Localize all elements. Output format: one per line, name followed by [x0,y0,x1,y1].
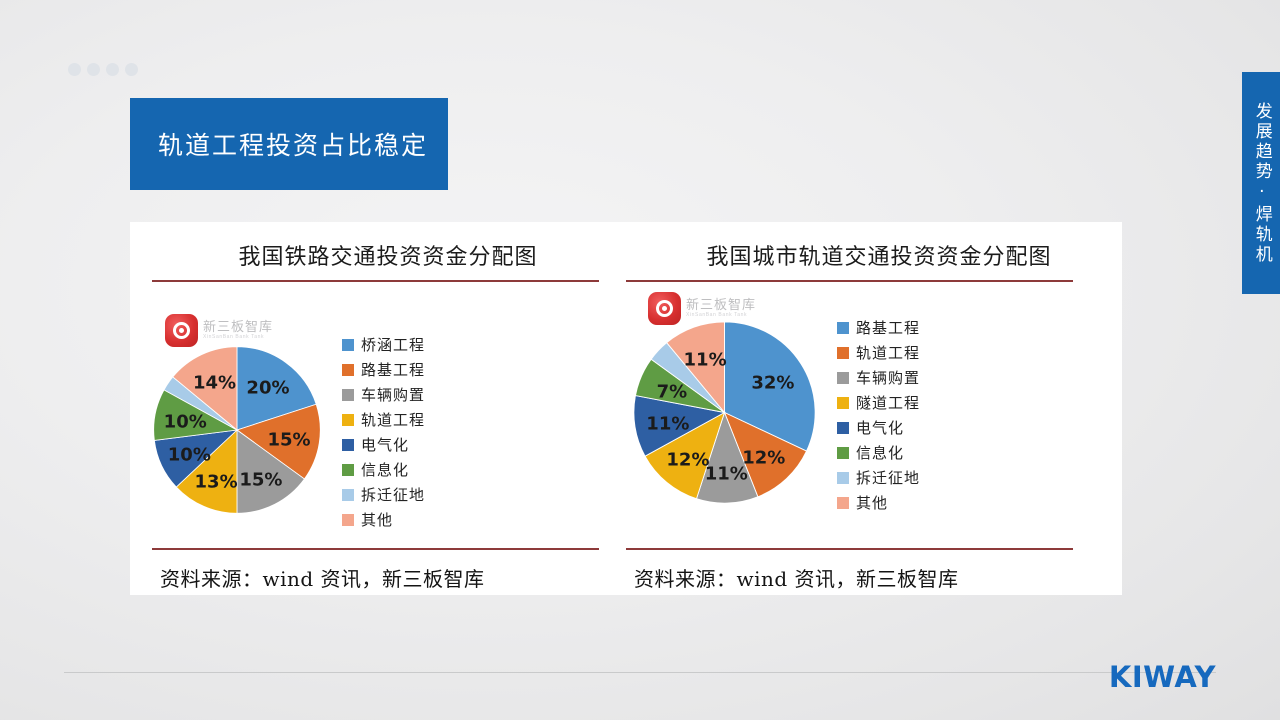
title-divider [152,280,599,282]
chart-panel-railway: 我国铁路交通投资资金分配图 新三板智库 XinSanBan Bank Tank … [130,222,626,595]
legend-swatch-icon [342,364,354,376]
legend-label: 轨道工程 [361,409,425,430]
charts-row: 我国铁路交通投资资金分配图 新三板智库 XinSanBan Bank Tank … [130,222,1122,595]
legend-item[interactable]: 信息化 [342,459,425,480]
legend-swatch-icon [837,472,849,484]
source-divider [626,548,1073,550]
legend-item[interactable]: 电气化 [837,417,920,438]
legend-label: 拆迁征地 [361,484,425,505]
legend-item[interactable]: 桥涵工程 [342,334,425,355]
section-side-tab[interactable]: 发展趋势·焊轨机 [1242,72,1280,294]
page-title: 轨道工程投资占比稳定 [130,126,428,162]
legend-label: 电气化 [361,434,409,455]
legend-label: 其他 [361,509,393,530]
pie-chart-railway: 20%15%15%13%10%10%14% [152,345,322,520]
chart-title: 我国铁路交通投资资金分配图 [130,222,626,271]
pie-area: 20%15%15%13%10%10%14% 桥涵工程路基工程车辆购置轨道工程电气… [152,334,425,530]
legend-swatch-icon [837,447,849,459]
legend-item[interactable]: 轨道工程 [837,342,920,363]
legend-item[interactable]: 轨道工程 [342,409,425,430]
pie-svg [152,345,322,515]
legend-swatch-icon [342,464,354,476]
chart-legend: 路基工程轨道工程车辆购置隧道工程电气化信息化拆迁征地其他 [837,317,920,513]
dot-icon [125,63,138,76]
legend-swatch-icon [342,439,354,451]
decorative-dots [68,63,138,76]
slide-root: 轨道工程投资占比稳定 发展趋势·焊轨机 我国铁路交通投资资金分配图 新三板智库 … [0,0,1280,720]
legend-swatch-icon [342,414,354,426]
legend-swatch-icon [342,389,354,401]
legend-swatch-icon [342,339,354,351]
legend-item[interactable]: 路基工程 [837,317,920,338]
legend-swatch-icon [837,347,849,359]
title-divider [626,280,1073,282]
dot-icon [68,63,81,76]
watermark-cn: 新三板智库 [203,321,273,335]
legend-swatch-icon [837,322,849,334]
source-divider [152,548,599,550]
legend-label: 其他 [856,492,888,513]
legend-swatch-icon [837,397,849,409]
legend-item[interactable]: 隧道工程 [837,392,920,413]
legend-label: 桥涵工程 [361,334,425,355]
legend-label: 车辆购置 [856,367,920,388]
legend-label: 路基工程 [361,359,425,380]
legend-item[interactable]: 拆迁征地 [342,484,425,505]
legend-label: 信息化 [856,442,904,463]
chart-legend: 桥涵工程路基工程车辆购置轨道工程电气化信息化拆迁征地其他 [342,334,425,530]
dot-icon [106,63,119,76]
legend-label: 电气化 [856,417,904,438]
legend-label: 车辆购置 [361,384,425,405]
legend-item[interactable]: 其他 [837,492,920,513]
dot-icon [87,63,100,76]
legend-label: 轨道工程 [856,342,920,363]
chart-source: 资料来源：wind 资讯，新三板智库 [160,563,485,592]
watermark-cn: 新三板智库 [686,299,756,313]
legend-label: 拆迁征地 [856,467,920,488]
brand-logo: KIWAY [1109,660,1216,694]
chart-title: 我国城市轨道交通投资资金分配图 [626,222,1122,271]
legend-item[interactable]: 电气化 [342,434,425,455]
brand-logo-text: KIWAY [1109,660,1216,694]
pie-area: 32%12%11%12%11%7%11% 路基工程轨道工程车辆购置隧道工程电气化… [632,317,920,513]
legend-item[interactable]: 路基工程 [342,359,425,380]
legend-label: 信息化 [361,459,409,480]
legend-swatch-icon [342,514,354,526]
chart-panel-urban-rail: 我国城市轨道交通投资资金分配图 新三板智库 XinSanBan Bank Tan… [626,222,1122,595]
charts-content-card: 我国铁路交通投资资金分配图 新三板智库 XinSanBan Bank Tank … [130,222,1122,595]
legend-swatch-icon [342,489,354,501]
legend-item[interactable]: 其他 [342,509,425,530]
footer-divider [64,672,1216,673]
slide-title-band: 轨道工程投资占比稳定 [130,98,448,190]
legend-item[interactable]: 拆迁征地 [837,467,920,488]
pie-svg [632,320,817,505]
legend-item[interactable]: 信息化 [837,442,920,463]
side-tab-label: 发展趋势·焊轨机 [1251,102,1271,265]
legend-label: 隧道工程 [856,392,920,413]
chart-source: 资料来源：wind 资讯，新三板智库 [634,563,959,592]
legend-swatch-icon [837,497,849,509]
pie-chart-urban-rail: 32%12%11%12%11%7%11% [632,320,817,510]
legend-item[interactable]: 车辆购置 [837,367,920,388]
legend-item[interactable]: 车辆购置 [342,384,425,405]
legend-swatch-icon [837,422,849,434]
legend-label: 路基工程 [856,317,920,338]
watermark-text: 新三板智库 XinSanBan Bank Tank [686,299,756,318]
legend-swatch-icon [837,372,849,384]
